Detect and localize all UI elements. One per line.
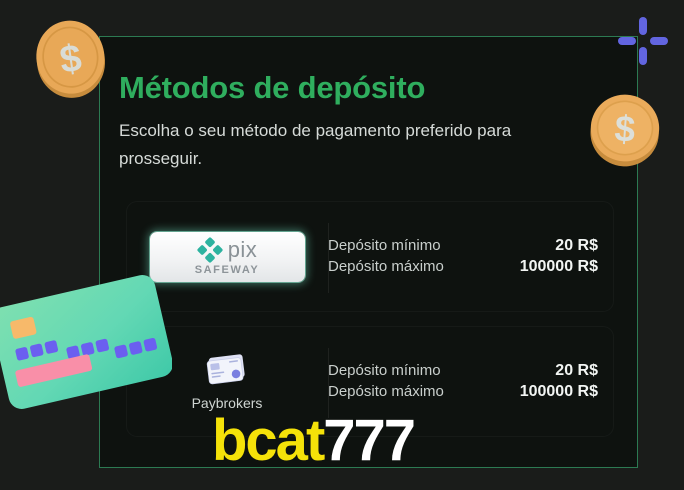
watermark: bcat777 xyxy=(212,412,414,470)
deposit-max-value: 100000 R$ xyxy=(520,383,598,401)
watermark-number: 777 xyxy=(323,408,414,473)
deposit-max-row: Depósito máximo 100000 R$ xyxy=(328,258,598,276)
deposit-max-value: 100000 R$ xyxy=(520,258,598,276)
deposit-max-label: Depósito máximo xyxy=(328,258,444,275)
watermark-brand: bcat xyxy=(212,408,323,473)
page-subtitle: Escolha o seu método de pagamento prefer… xyxy=(119,117,599,173)
payment-method-card-pix[interactable]: pix SAFEWAY Depósito mínimo 20 R$ Depósi… xyxy=(125,200,615,313)
pix-wordmark: pix xyxy=(228,240,258,260)
deposit-min-row: Depósito mínimo 20 R$ xyxy=(328,237,598,255)
brand-column: Paybrokers xyxy=(126,352,328,411)
deposit-max-label: Depósito máximo xyxy=(328,383,444,400)
pix-diamond-icon xyxy=(197,237,223,263)
pix-logo-row: pix xyxy=(197,237,258,263)
deposit-min-row: Depósito mínimo 20 R$ xyxy=(328,362,598,380)
deposit-min-value: 20 R$ xyxy=(555,237,598,255)
pix-safeway-logo[interactable]: pix SAFEWAY xyxy=(150,232,305,282)
screen-root: Métodos de depósito Escolha o seu método… xyxy=(0,0,684,490)
brand-column: pix SAFEWAY xyxy=(126,232,328,282)
deposit-min-label: Depósito mínimo xyxy=(328,237,441,254)
deposit-min-value: 20 R$ xyxy=(555,362,598,380)
deposit-info-column: Depósito mínimo 20 R$ Depósito máximo 10… xyxy=(328,234,614,279)
credit-card-icon[interactable] xyxy=(204,352,250,388)
deposit-min-label: Depósito mínimo xyxy=(328,362,441,379)
deposit-max-row: Depósito máximo 100000 R$ xyxy=(328,383,598,401)
svg-text:$: $ xyxy=(57,36,84,82)
deposit-info-column: Depósito mínimo 20 R$ Depósito máximo 10… xyxy=(328,359,614,404)
pix-safeway-wordmark: SAFEWAY xyxy=(195,264,260,276)
page-title: Métodos de depósito xyxy=(119,70,425,106)
